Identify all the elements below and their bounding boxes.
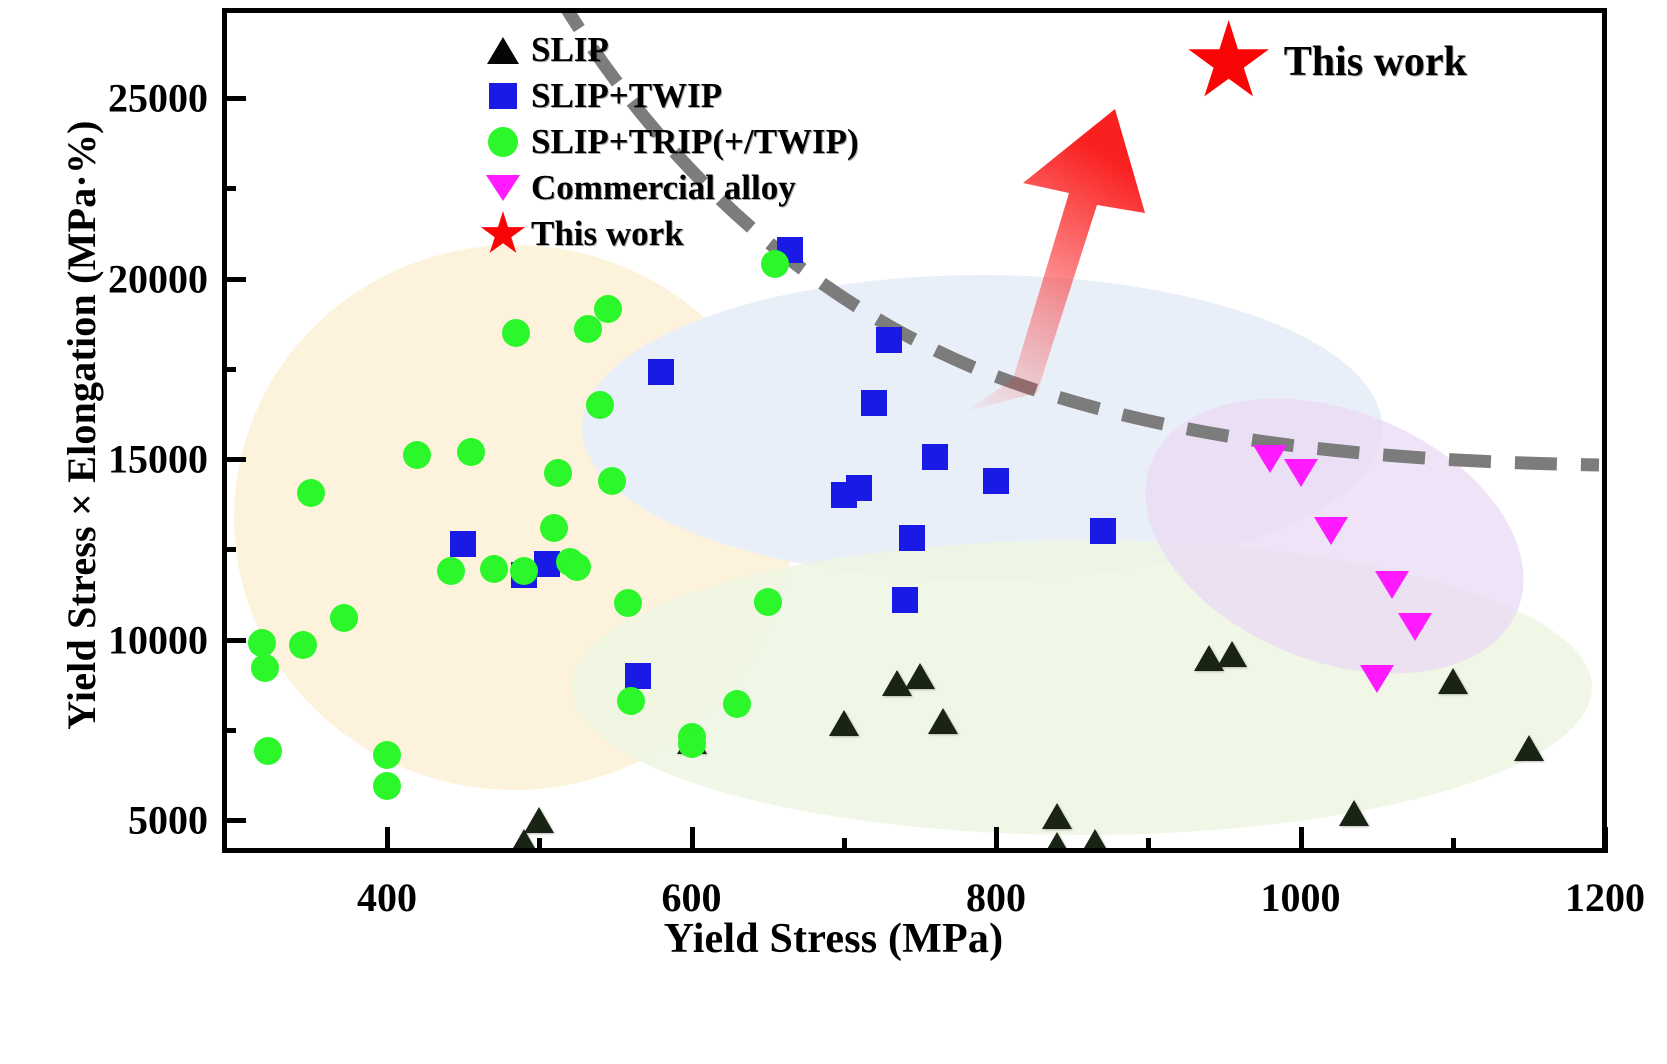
y-tick-major	[222, 457, 246, 462]
y-tick-minor	[222, 367, 236, 372]
x-tick-major	[994, 827, 999, 853]
x-tick-minor	[537, 838, 542, 853]
x-tick-major	[690, 827, 695, 853]
x-tick-minor	[842, 838, 847, 853]
x-tick-major	[385, 827, 390, 853]
scatter-chart-figure: This work SLIPSLIP+TWIPSLIP+TRIP(+/TWIP)…	[0, 0, 1667, 1064]
x-tick-minor	[1146, 838, 1151, 853]
y-axis-title: Yield Stress × Elongation (MPa·%)	[58, 0, 105, 850]
x-tick-label: 400	[357, 874, 417, 921]
y-tick-minor	[222, 728, 236, 733]
x-tick-label: 1200	[1565, 874, 1645, 921]
x-axis-ticks: 40060080010001200	[0, 862, 1667, 922]
y-tick-major	[222, 818, 246, 823]
x-tick-label: 600	[662, 874, 722, 921]
x-axis-title: Yield Stress (MPa)	[0, 915, 1667, 963]
x-tick-minor	[1451, 838, 1456, 853]
x-tick-major	[1299, 827, 1304, 853]
y-tick-major	[222, 96, 246, 101]
y-tick-minor	[222, 186, 236, 191]
x-tick-major	[1603, 827, 1608, 853]
y-tick-major	[222, 638, 246, 643]
x-tick-label: 800	[966, 874, 1026, 921]
plot-frame	[222, 8, 1607, 853]
y-tick-major	[222, 277, 246, 282]
x-tick-label: 1000	[1261, 874, 1341, 921]
y-tick-minor	[222, 547, 236, 552]
